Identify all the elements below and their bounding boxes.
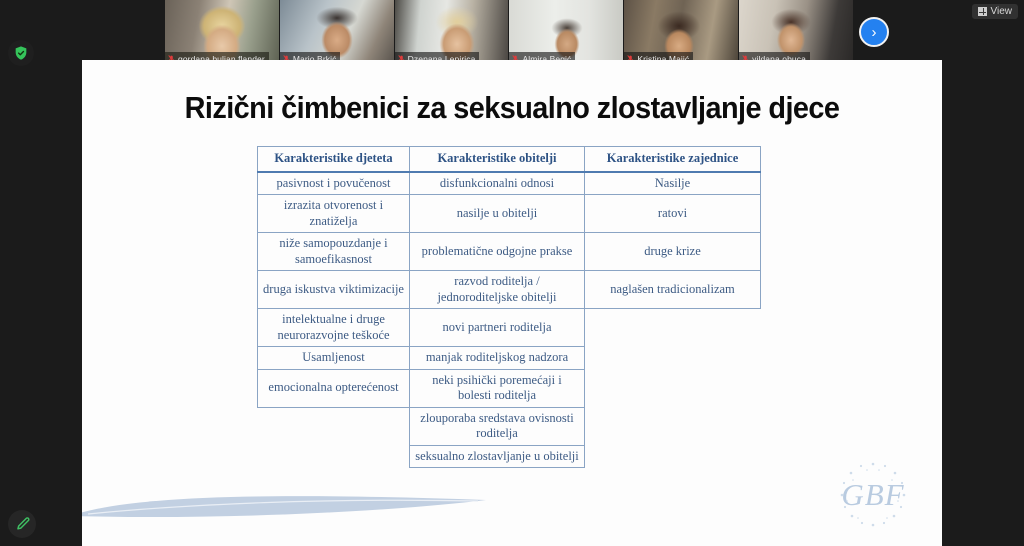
table-cell: zlouporaba sredstava ovisnosti roditelja — [410, 407, 585, 445]
meeting-screen-share-view: gordana buljan flanderMario BrkićDzenana… — [0, 0, 1024, 546]
table-cell: nasilje u obitelji — [410, 195, 585, 233]
grid-icon — [978, 7, 987, 16]
table-cell-empty — [585, 407, 761, 445]
table-cell-empty — [585, 309, 761, 347]
participant-tile[interactable]: Kristina Majić — [624, 0, 738, 66]
participant-tile[interactable]: Mario Brkić — [280, 0, 394, 66]
table-cell: druga iskustva viktimizacije — [258, 271, 410, 309]
table-cell: naglašen tradicionalizam — [585, 271, 761, 309]
table-row: Usamljenostmanjak roditeljskog nadzora — [258, 347, 761, 370]
table-row: zlouporaba sredstava ovisnosti roditelja — [258, 407, 761, 445]
table-cell: neki psihički poremećaji i bolesti rodit… — [410, 369, 585, 407]
table-row: emocionalna opterećenostneki psihički po… — [258, 369, 761, 407]
table-cell: disfunkcionalni odnosi — [410, 172, 585, 195]
table-row: niže samopouzdanje i samoefikasnostprobl… — [258, 233, 761, 271]
view-button[interactable]: View — [972, 4, 1019, 19]
shared-slide: Rizični čimbenici za seksualno zlostavlj… — [82, 60, 942, 546]
watermark-ring-icon — [832, 458, 914, 532]
next-participants-button[interactable]: › — [859, 17, 889, 47]
table-row: pasivnost i povučenostdisfunkcionalni od… — [258, 172, 761, 195]
table-cell: druge krize — [585, 233, 761, 271]
participant-tile[interactable]: Dzenana Lepirica — [395, 0, 509, 66]
table-cell: Nasilje — [585, 172, 761, 195]
table-row: druga iskustva viktimizacijerazvod rodit… — [258, 271, 761, 309]
table-cell: problematične odgojne prakse — [410, 233, 585, 271]
table-cell-empty — [258, 407, 410, 445]
table-cell: manjak roditeljskog nadzora — [410, 347, 585, 370]
risk-factors-table: Karakteristike djeteta Karakteristike ob… — [257, 146, 761, 468]
decorative-swoosh — [82, 490, 488, 520]
table-header-row: Karakteristike djeteta Karakteristike ob… — [258, 147, 761, 172]
table-header: Karakteristike djeteta Karakteristike ob… — [258, 147, 761, 172]
table-body: pasivnost i povučenostdisfunkcionalni od… — [258, 172, 761, 468]
gbf-watermark: GBF — [832, 458, 914, 532]
annotate-button[interactable] — [8, 510, 36, 538]
table-cell: Usamljenost — [258, 347, 410, 370]
table-row: seksualno zlostavljanje u obitelji — [258, 445, 761, 468]
table-row: intelektualne i druge neurorazvojne tešk… — [258, 309, 761, 347]
participant-tile[interactable]: vildana obuca — [739, 0, 853, 66]
table-cell: emocionalna opterećenost — [258, 369, 410, 407]
table-cell: pasivnost i povučenost — [258, 172, 410, 195]
table-cell-empty — [258, 445, 410, 468]
column-header-family: Karakteristike obitelji — [410, 147, 585, 172]
participant-tile[interactable]: gordana buljan flander — [165, 0, 279, 66]
table-cell: intelektualne i druge neurorazvojne tešk… — [258, 309, 410, 347]
chevron-right-icon: › — [872, 25, 877, 40]
column-header-child: Karakteristike djeteta — [258, 147, 410, 172]
table-cell: seksualno zlostavljanje u obitelji — [410, 445, 585, 468]
security-button[interactable] — [8, 40, 34, 66]
table-row: izrazita otvorenost i znatiželjanasilje … — [258, 195, 761, 233]
slide-title: Rizični čimbenici za seksualno zlostavlj… — [112, 90, 912, 126]
table-cell-empty — [585, 369, 761, 407]
pen-icon — [14, 516, 31, 533]
participant-tile[interactable]: Almira Begić — [509, 0, 623, 66]
participant-filmstrip: gordana buljan flanderMario BrkićDzenana… — [165, 0, 853, 66]
shield-check-icon — [13, 45, 29, 61]
table-cell-empty — [585, 347, 761, 370]
table-cell: ratovi — [585, 195, 761, 233]
table-cell: razvod roditelja / jednoroditeljske obit… — [410, 271, 585, 309]
column-header-community: Karakteristike zajednice — [585, 147, 761, 172]
table-cell: novi partneri roditelja — [410, 309, 585, 347]
view-button-label: View — [991, 6, 1013, 17]
table-cell: izrazita otvorenost i znatiželja — [258, 195, 410, 233]
table-cell-empty — [585, 445, 761, 468]
table-cell: niže samopouzdanje i samoefikasnost — [258, 233, 410, 271]
